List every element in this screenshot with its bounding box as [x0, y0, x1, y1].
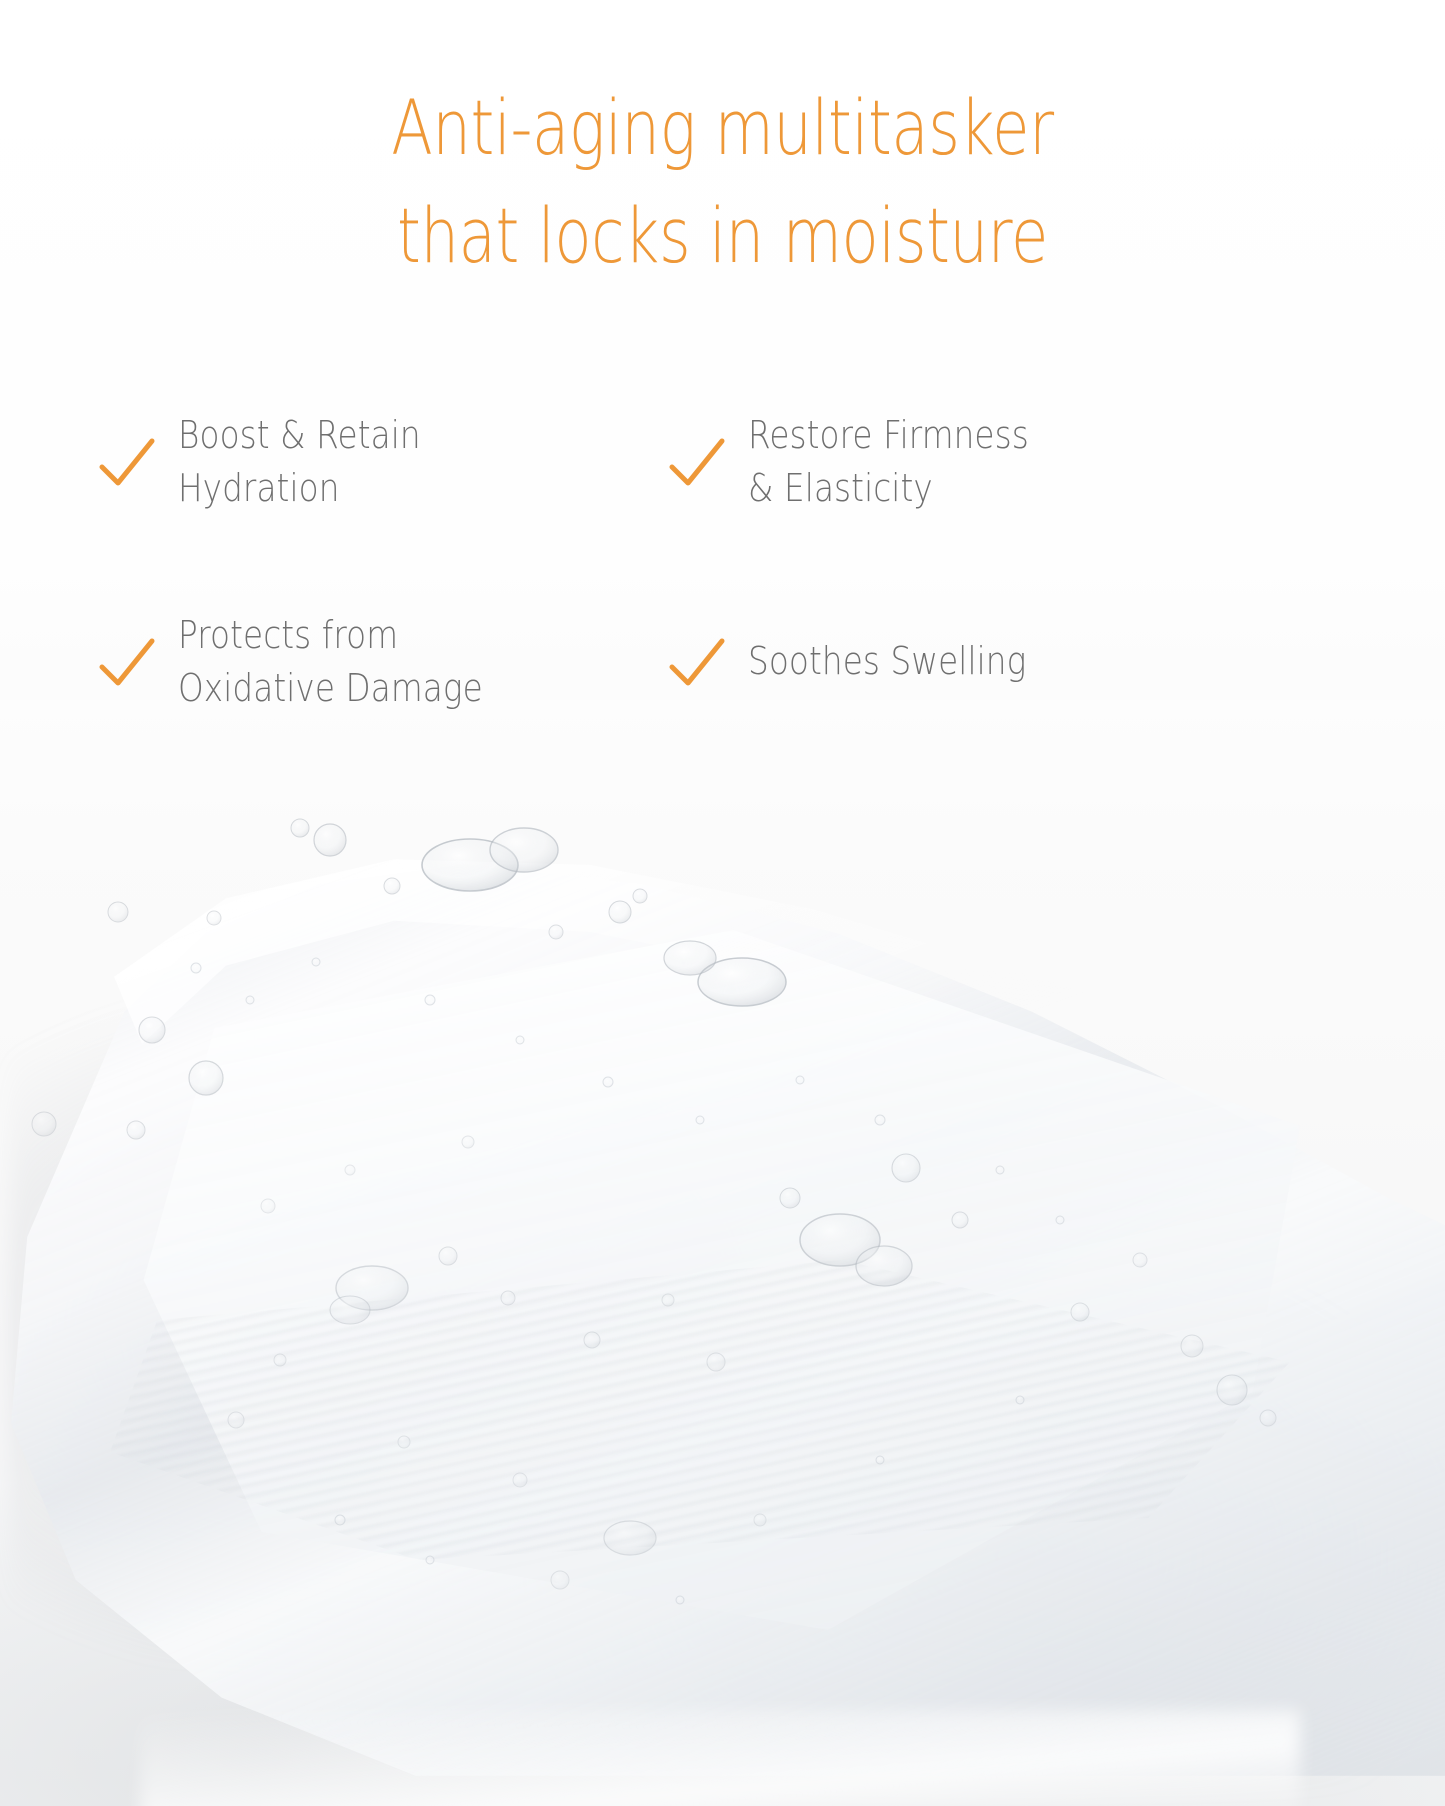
- benefit-item-protects-oxidative-damage: Protects from Oxidative Damage: [96, 562, 666, 762]
- benefits-grid: Boost & Retain Hydration Restore Firmnes…: [96, 362, 1176, 762]
- page-title-line-2: that locks in moisture: [145, 182, 1301, 290]
- checkmark-icon: [96, 433, 158, 495]
- checkmark-icon: [96, 633, 158, 695]
- product-benefits-page: Anti-aging multitasker that locks in moi…: [0, 0, 1445, 1806]
- benefit-item-restore-firmness-elasticity: Restore Firmness & Elasticity: [666, 362, 1176, 562]
- benefit-label: Restore Firmness & Elasticity: [748, 409, 1029, 515]
- benefit-label: Boost & Retain Hydration: [178, 409, 421, 515]
- benefit-item-soothes-swelling: Soothes Swelling: [666, 562, 1176, 762]
- benefit-label: Protects from Oxidative Damage: [178, 609, 483, 715]
- checkmark-icon: [666, 633, 728, 695]
- checkmark-icon: [666, 433, 728, 495]
- gel-swatch-image: [0, 700, 1445, 1806]
- page-title: Anti-aging multitasker that locks in moi…: [145, 74, 1301, 290]
- page-title-line-1: Anti-aging multitasker: [145, 74, 1301, 182]
- gel-bubbles: [0, 700, 1445, 1806]
- benefit-label: Soothes Swelling: [748, 635, 1026, 688]
- benefit-item-boost-retain-hydration: Boost & Retain Hydration: [96, 362, 666, 562]
